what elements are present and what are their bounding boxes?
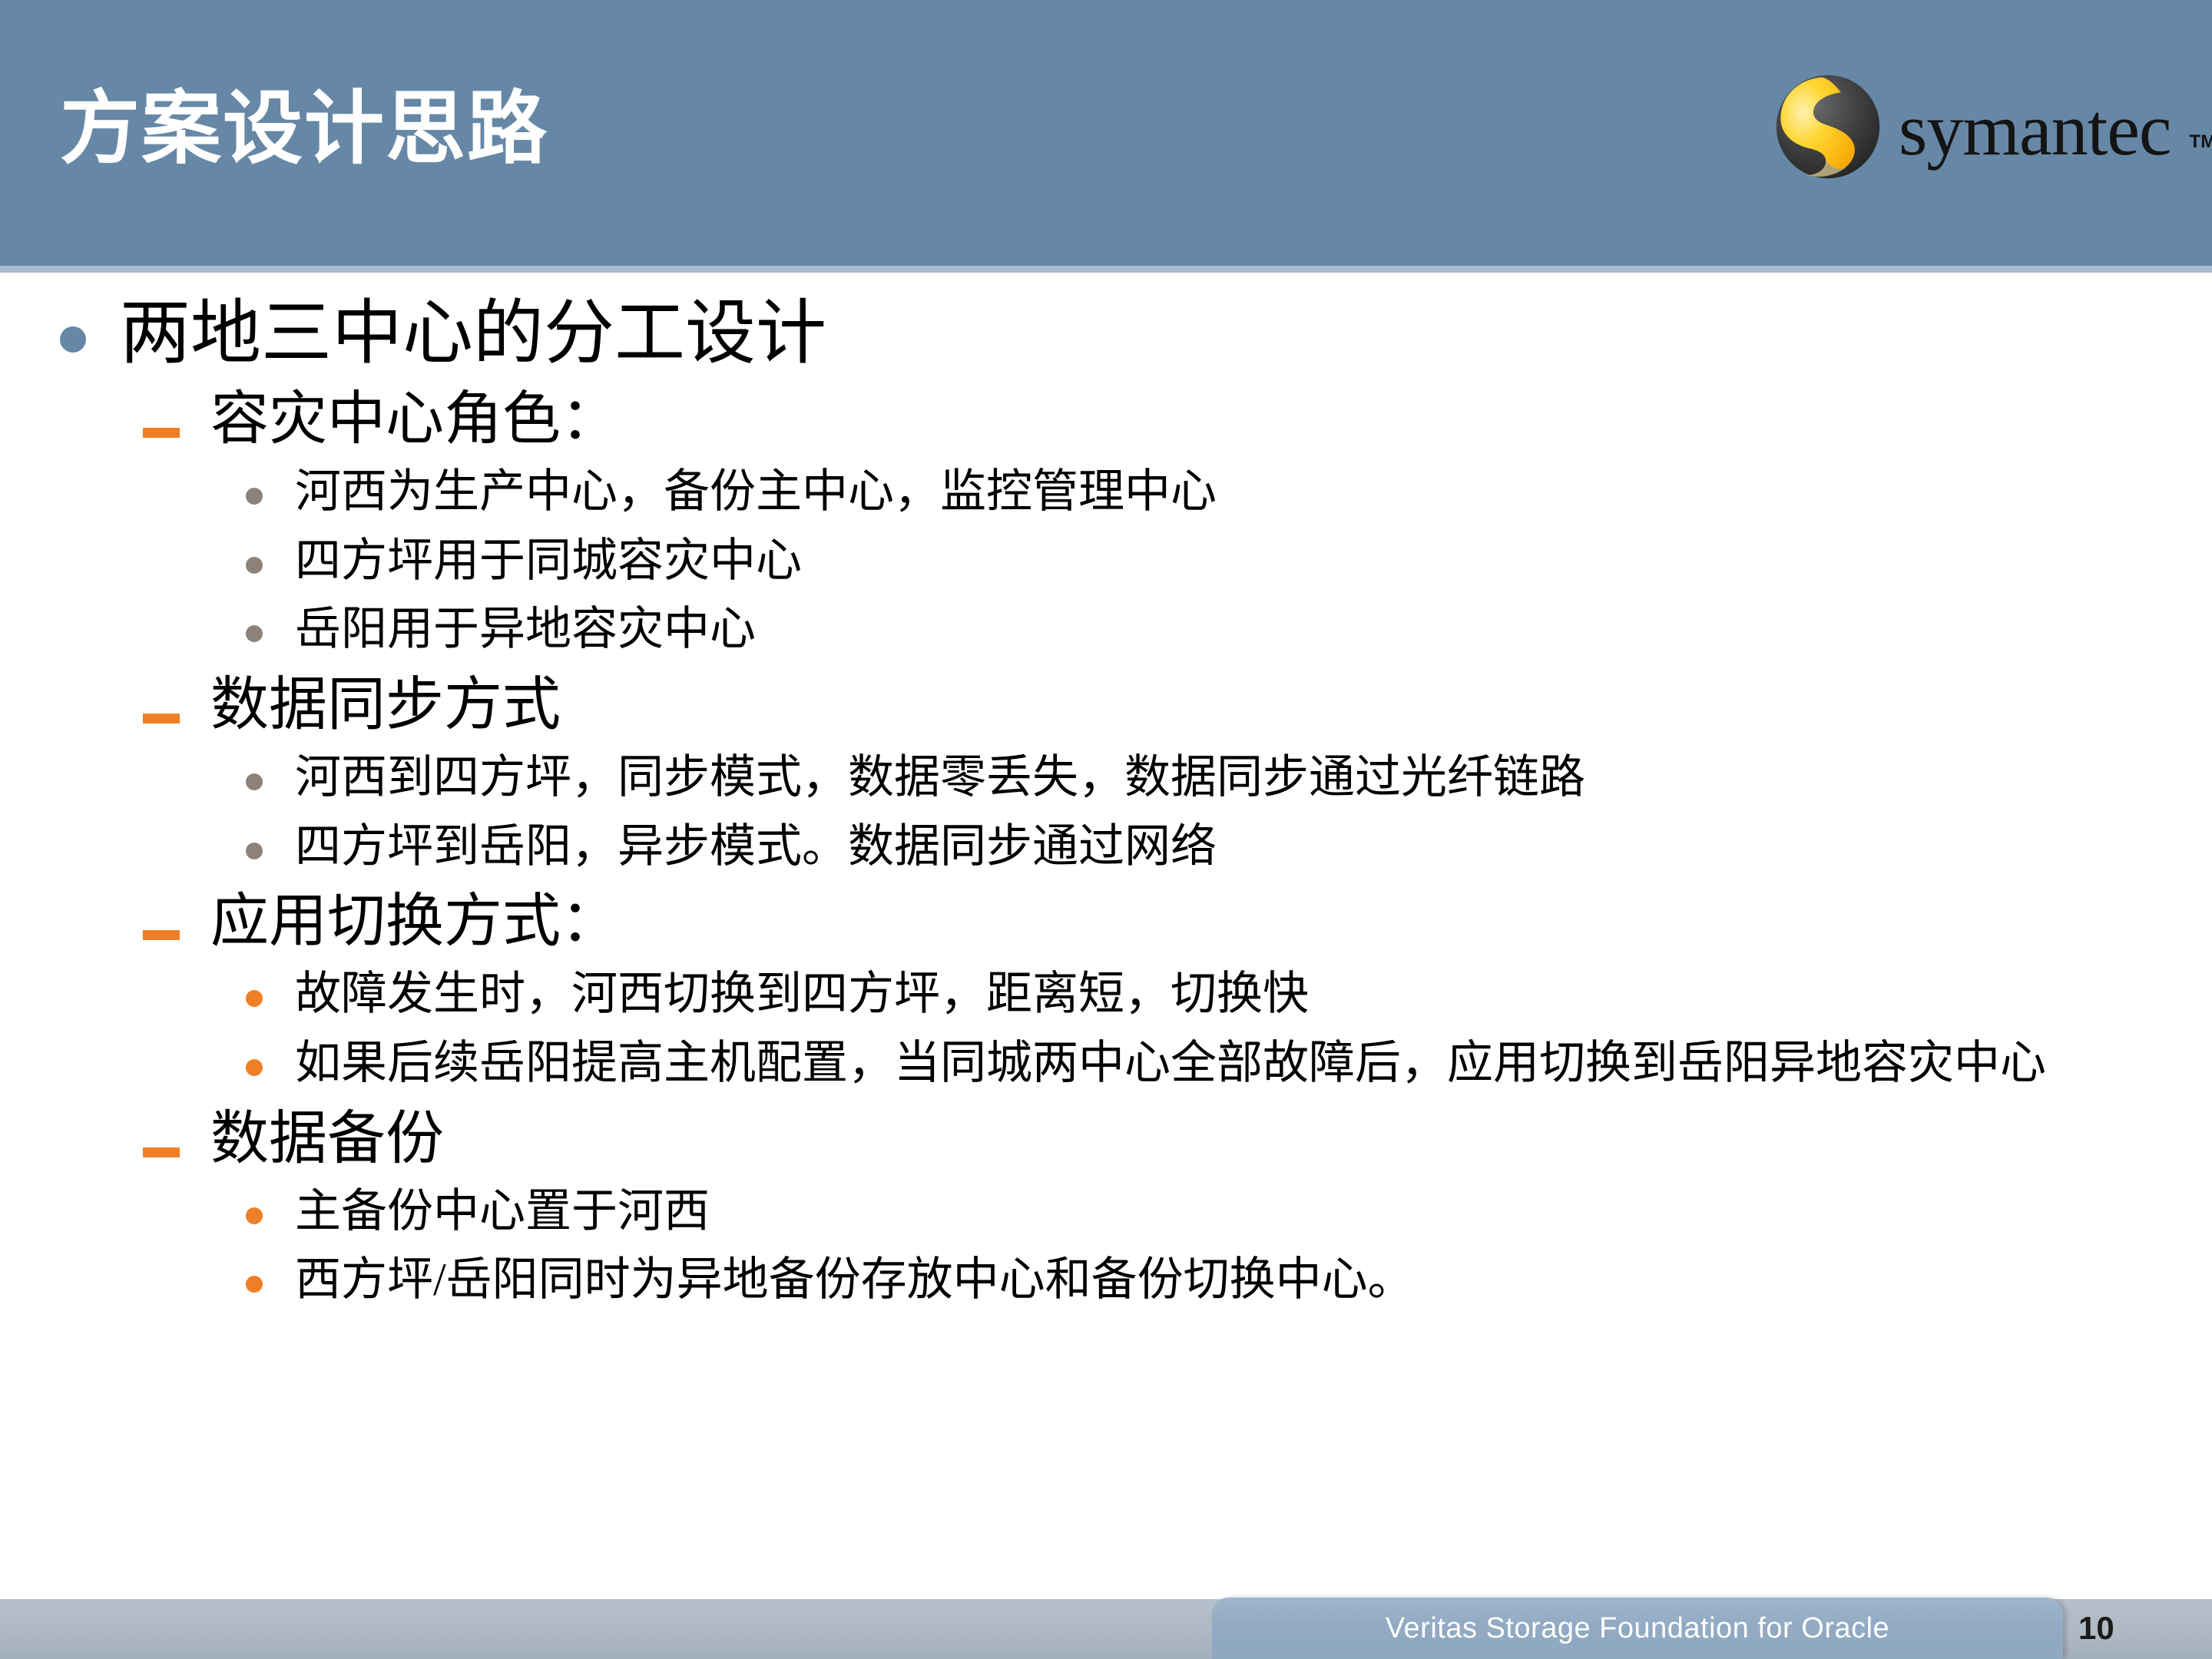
bullet-text: 数据同步方式 bbox=[210, 673, 561, 738]
bullet-level2: 数据备份 bbox=[143, 1107, 2212, 1172]
bullet-level3: 岳阳用于异地容灾中心 bbox=[246, 601, 2212, 659]
bullet-level2: 容灾中心角色： bbox=[143, 387, 2212, 452]
bullet-text: 四方坪到岳阳，异步模式。数据同步通过网络 bbox=[295, 818, 1217, 876]
bullet-level3: 河西到四方坪，同步模式，数据零丢失，数据同步通过光纤链路 bbox=[246, 749, 2212, 807]
bullet-dot-orange-icon bbox=[246, 990, 263, 1007]
bullet-text: 如果后续岳阳提高主机配置，当同城两中心全部故障后，应用切换到岳阳异地容灾中心 bbox=[295, 1035, 2046, 1093]
bullet-text: 河西到四方坪，同步模式，数据零丢失，数据同步通过光纤链路 bbox=[295, 749, 1585, 807]
symantec-circle-logo-icon bbox=[1774, 73, 1882, 180]
bullet-text: 两地三中心的分工设计 bbox=[120, 294, 826, 373]
bullet-level3: 故障发生时，河西切换到四方坪，距离短，切换快 bbox=[246, 965, 2212, 1024]
bullet-dot-gray-icon bbox=[246, 488, 263, 505]
bullet-level2: 数据同步方式 bbox=[143, 673, 2212, 738]
bullet-dot-gray-icon bbox=[246, 625, 263, 642]
page-title: 方案设计思路 bbox=[60, 88, 548, 168]
bullet-text: 主备份中心置于河西 bbox=[295, 1183, 710, 1241]
bullet-text: 应用切换方式： bbox=[210, 889, 619, 955]
bullet-text: 四方坪用于同城容灾中心 bbox=[295, 532, 802, 591]
bullet-dot-orange-icon bbox=[246, 1276, 263, 1293]
bullet-level3: 西方坪/岳阳同时为异地备份存放中心和备份切换中心。 bbox=[246, 1251, 2212, 1310]
bullet-dot-gray-icon bbox=[246, 557, 263, 574]
bullet-level3: 四方坪到岳阳，异步模式。数据同步通过网络 bbox=[246, 818, 2212, 876]
bullet-dash-orange-icon bbox=[143, 1147, 180, 1157]
bullet-level3: 如果后续岳阳提高主机配置，当同城两中心全部故障后，应用切换到岳阳异地容灾中心 bbox=[246, 1035, 2212, 1093]
bullet-text: 河西为生产中心，备份主中心，监控管理中心 bbox=[295, 463, 1217, 522]
page-number: 10 bbox=[2078, 1598, 2171, 1659]
bullet-dot-gray-icon bbox=[246, 843, 263, 859]
bullet-dash-orange-icon bbox=[143, 714, 180, 724]
bullet-level1: 两地三中心的分工设计 bbox=[60, 294, 2212, 373]
bullet-level3: 河西为生产中心，备份主中心，监控管理中心 bbox=[246, 463, 2212, 522]
bullet-dot-orange-icon bbox=[246, 1207, 263, 1224]
bullet-level3: 主备份中心置于河西 bbox=[246, 1183, 2212, 1241]
bullet-level2: 应用切换方式： bbox=[143, 889, 2212, 955]
trademark-symbol: TM bbox=[2190, 131, 2212, 153]
slide-body: 两地三中心的分工设计 容灾中心角色： 河西为生产中心，备份主中心，监控管理中心 … bbox=[0, 273, 2212, 1598]
bullet-dash-orange-icon bbox=[143, 930, 180, 940]
bullet-dash-orange-icon bbox=[143, 428, 180, 438]
bullet-text: 西方坪/岳阳同时为异地备份存放中心和备份切换中心。 bbox=[295, 1251, 1414, 1310]
bullet-text: 数据备份 bbox=[210, 1107, 444, 1172]
footer-label: Veritas Storage Foundation for Oracle bbox=[1212, 1598, 2063, 1659]
bullet-text: 故障发生时，河西切换到四方坪，距离短，切换快 bbox=[295, 965, 1309, 1024]
bullet-text: 岳阳用于异地容灾中心 bbox=[295, 601, 756, 659]
bullet-level3: 四方坪用于同城容灾中心 bbox=[246, 532, 2212, 591]
bullet-text: 容灾中心角色： bbox=[210, 387, 619, 452]
bullet-dot-orange-icon bbox=[246, 1059, 263, 1076]
symantec-logo: symantec TM bbox=[1774, 73, 2212, 180]
bullet-dot-blue-icon bbox=[60, 326, 86, 353]
bullet-dot-gray-icon bbox=[246, 773, 263, 790]
symantec-wordmark: symantec bbox=[1899, 93, 2171, 167]
header-underline-rule bbox=[0, 266, 2212, 273]
